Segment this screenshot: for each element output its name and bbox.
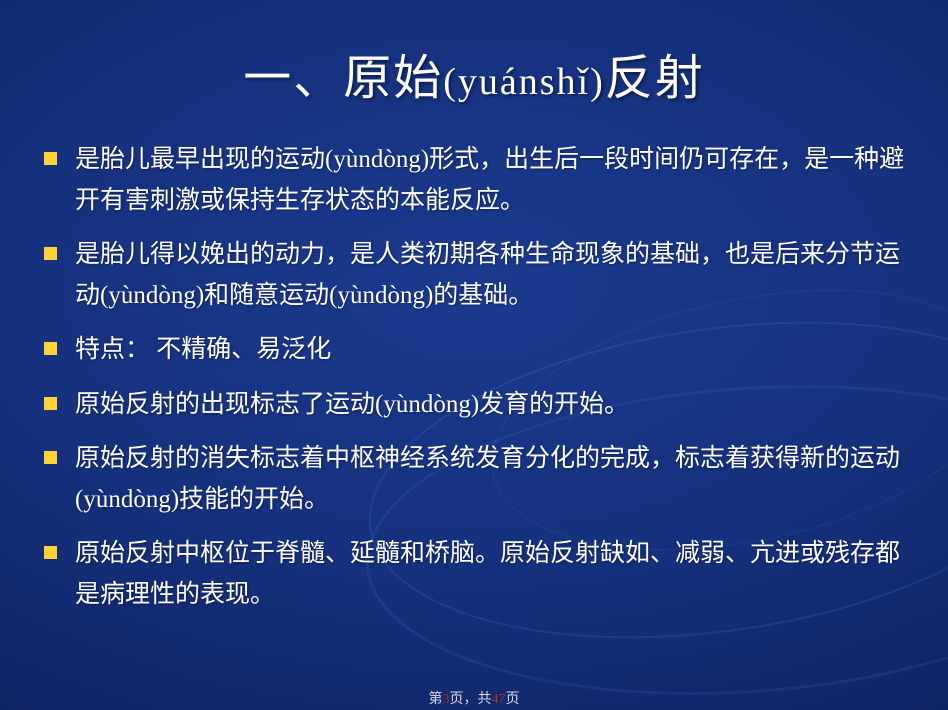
slide-title-pinyin: (yuánshǐ) [443, 61, 605, 103]
footer-suffix: 页 [506, 692, 520, 707]
bullet-text: 是胎儿最早出现的运动(yùndòng)形式，出生后一段时间仍可存在，是一种避开有… [75, 140, 924, 221]
bullet-text: 原始反射的出现标志了运动(yùndòng)发育的开始。 [75, 385, 924, 426]
slide-title-main-second: 反射 [605, 52, 705, 105]
bullet-square-icon [44, 342, 57, 355]
list-item: 原始反射中枢位于脊髓、延髓和桥脑。原始反射缺如、减弱、亢进或残存都是病理性的表现… [44, 534, 924, 615]
slide-title-main-first: 一、原始 [243, 52, 443, 105]
bullet-square-icon [44, 546, 57, 559]
footer-page-number: 3 [443, 692, 450, 707]
bullet-text: 特点： 不精确、易泛化 [75, 330, 924, 371]
bullet-list: 是胎儿最早出现的运动(yùndòng)形式，出生后一段时间仍可存在，是一种避开有… [44, 140, 924, 629]
slide-canvas: 一、原始(yuánshǐ)反射 是胎儿最早出现的运动(yùndòng)形式，出生… [0, 0, 948, 710]
footer-prefix: 第 [429, 692, 443, 707]
list-item: 原始反射的出现标志了运动(yùndòng)发育的开始。 [44, 385, 924, 426]
bullet-square-icon [44, 397, 57, 410]
bullet-text: 原始反射中枢位于脊髓、延髓和桥脑。原始反射缺如、减弱、亢进或残存都是病理性的表现… [75, 534, 924, 615]
bullet-text: 是胎儿得以娩出的动力，是人类初期各种生命现象的基础，也是后来分节运动(yùndò… [75, 235, 924, 316]
list-item: 特点： 不精确、易泛化 [44, 330, 924, 371]
slide-footer: 第3页，共47页 [0, 688, 948, 708]
slide-title: 一、原始(yuánshǐ)反射 [0, 38, 948, 108]
list-item: 是胎儿得以娩出的动力，是人类初期各种生命现象的基础，也是后来分节运动(yùndò… [44, 235, 924, 316]
bullet-square-icon [44, 451, 57, 464]
bullet-square-icon [44, 247, 57, 260]
footer-middle: 页，共 [450, 692, 492, 707]
list-item: 原始反射的消失标志着中枢神经系统发育分化的完成，标志着获得新的运动(yùndòn… [44, 439, 924, 520]
bullet-square-icon [44, 152, 57, 165]
footer-total-pages: 47 [492, 692, 506, 707]
list-item: 是胎儿最早出现的运动(yùndòng)形式，出生后一段时间仍可存在，是一种避开有… [44, 140, 924, 221]
bullet-text: 原始反射的消失标志着中枢神经系统发育分化的完成，标志着获得新的运动(yùndòn… [75, 439, 924, 520]
